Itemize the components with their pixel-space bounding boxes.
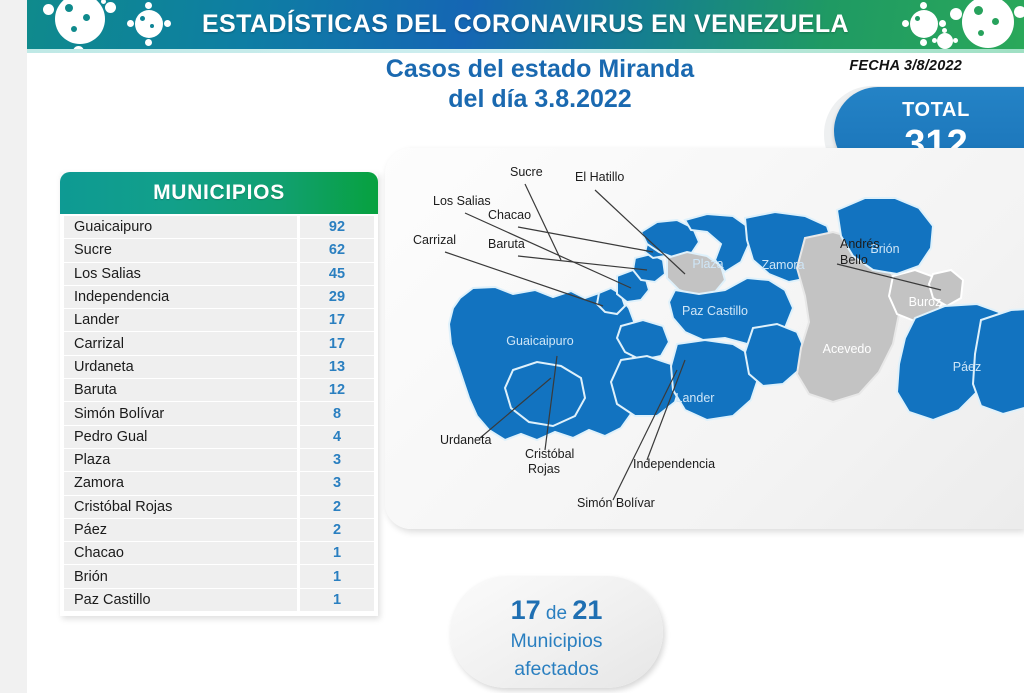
municipios-table-body: Guaicaipuro92Sucre62Los Salias45Independ… bbox=[60, 214, 378, 616]
municipio-name: Sucre bbox=[64, 242, 297, 258]
map-callout-label: Rojas bbox=[528, 462, 560, 476]
municipio-case-count: 13 bbox=[300, 359, 374, 375]
banner-underline bbox=[27, 49, 1024, 53]
table-row[interactable]: Brión1 bbox=[64, 565, 374, 587]
map-region-label: Páez bbox=[953, 360, 982, 374]
affected-municipalities-badge: 17 de 21 Municipios afectados bbox=[450, 576, 663, 688]
table-row[interactable]: Páez2 bbox=[64, 519, 374, 541]
map-callout-label: Chacao bbox=[488, 208, 531, 222]
map-region-label: Acevedo bbox=[823, 342, 872, 356]
table-row[interactable]: Lander17 bbox=[64, 309, 374, 331]
table-row[interactable]: Cristóbal Rojas2 bbox=[64, 496, 374, 518]
municipio-case-count: 92 bbox=[300, 219, 374, 235]
affected-count-line: 17 de 21 bbox=[450, 595, 663, 626]
municipio-case-count: 2 bbox=[300, 522, 374, 538]
municipio-case-count: 8 bbox=[300, 406, 374, 422]
table-row[interactable]: Los Salias45 bbox=[64, 263, 374, 285]
municipio-case-count: 3 bbox=[300, 452, 374, 468]
map-callout-label: Simón Bolívar bbox=[577, 496, 655, 510]
table-row[interactable]: Urdaneta13 bbox=[64, 356, 374, 378]
map-region-label: Guaicaipuro bbox=[506, 334, 573, 348]
map-region-label: Plaza bbox=[692, 257, 723, 271]
municipio-case-count: 1 bbox=[300, 569, 374, 585]
municipios-table: MUNICIPIOS Guaicaipuro92Sucre62Los Salia… bbox=[60, 172, 378, 616]
affected-count: 17 bbox=[511, 595, 541, 625]
map-callout-label: Andrés bbox=[840, 237, 880, 251]
miranda-map-panel: GuaicaipuroPlazaZamoraPaz CastilloLander… bbox=[385, 148, 1024, 529]
date-label: FECHA 3/8/2022 bbox=[849, 58, 962, 74]
municipio-case-count: 1 bbox=[300, 592, 374, 608]
total-label: TOTAL bbox=[848, 99, 1024, 122]
map-region-label: Lander bbox=[676, 391, 715, 405]
municipio-name: Los Salias bbox=[64, 266, 297, 282]
banner-title: ESTADÍSTICAS DEL CORONAVIRUS EN VENEZUEL… bbox=[27, 0, 1024, 49]
municipio-case-count: 45 bbox=[300, 266, 374, 282]
municipio-case-count: 29 bbox=[300, 289, 374, 305]
municipio-name: Simón Bolívar bbox=[64, 406, 297, 422]
page-title-line1: Casos del estado Miranda bbox=[300, 54, 780, 84]
map-callout-label: Urdaneta bbox=[440, 433, 491, 447]
municipio-name: Baruta bbox=[64, 382, 297, 398]
map-callout-label: El Hatillo bbox=[575, 170, 624, 184]
municipio-name: Brión bbox=[64, 569, 297, 585]
municipio-name: Zamora bbox=[64, 475, 297, 491]
map-callout-label: Sucre bbox=[510, 165, 543, 179]
table-row[interactable]: Carrizal17 bbox=[64, 332, 374, 354]
infographic-root: ESTADÍSTICAS DEL CORONAVIRUS EN VENEZUEL… bbox=[0, 0, 1024, 693]
affected-label-line1: Municipios bbox=[450, 629, 663, 654]
municipio-name: Urdaneta bbox=[64, 359, 297, 375]
map-region-label: Paz Castillo bbox=[682, 304, 748, 318]
municipio-case-count: 17 bbox=[300, 336, 374, 352]
municipio-case-count: 3 bbox=[300, 475, 374, 491]
municipio-name: Páez bbox=[64, 522, 297, 538]
municipio-name: Cristóbal Rojas bbox=[64, 499, 297, 515]
header-banner: ESTADÍSTICAS DEL CORONAVIRUS EN VENEZUEL… bbox=[27, 0, 1024, 49]
map-callout-label: Baruta bbox=[488, 237, 525, 251]
municipio-name: Pedro Gual bbox=[64, 429, 297, 445]
municipio-case-count: 1 bbox=[300, 545, 374, 561]
table-row[interactable]: Chacao1 bbox=[64, 542, 374, 564]
map-region-independencia[interactable] bbox=[745, 324, 805, 386]
page-title-line2: del día 3.8.2022 bbox=[300, 84, 780, 114]
municipio-name: Chacao bbox=[64, 545, 297, 561]
page-title: Casos del estado Miranda del día 3.8.202… bbox=[300, 54, 780, 114]
map-region-label: Buroz bbox=[909, 295, 942, 309]
table-row[interactable]: Guaicaipuro92 bbox=[64, 216, 374, 238]
miranda-map: GuaicaipuroPlazaZamoraPaz CastilloLander… bbox=[385, 148, 1024, 529]
table-row[interactable]: Plaza3 bbox=[64, 449, 374, 471]
map-callout-label: Cristóbal bbox=[525, 447, 574, 461]
municipio-name: Paz Castillo bbox=[64, 592, 297, 608]
affected-total: 21 bbox=[572, 595, 602, 625]
table-row[interactable]: Zamora3 bbox=[64, 472, 374, 494]
map-callout-label: Bello bbox=[840, 253, 868, 267]
table-row[interactable]: Baruta12 bbox=[64, 379, 374, 401]
affected-label-line2: afectados bbox=[450, 657, 663, 682]
municipio-case-count: 12 bbox=[300, 382, 374, 398]
table-row[interactable]: Independencia29 bbox=[64, 286, 374, 308]
municipio-name: Carrizal bbox=[64, 336, 297, 352]
table-row[interactable]: Pedro Gual4 bbox=[64, 426, 374, 448]
table-row[interactable]: Simón Bolívar8 bbox=[64, 402, 374, 424]
map-callout-label: Carrizal bbox=[413, 233, 456, 247]
affected-connector: de bbox=[541, 603, 573, 624]
map-regions bbox=[449, 198, 1024, 440]
map-callout-label: Independencia bbox=[633, 457, 715, 471]
municipio-case-count: 4 bbox=[300, 429, 374, 445]
municipio-case-count: 62 bbox=[300, 242, 374, 258]
municipio-name: Plaza bbox=[64, 452, 297, 468]
municipio-name: Lander bbox=[64, 312, 297, 328]
table-row[interactable]: Sucre62 bbox=[64, 239, 374, 261]
map-region-label: Zamora bbox=[761, 258, 804, 272]
municipios-table-header: MUNICIPIOS bbox=[60, 172, 378, 214]
municipio-name: Independencia bbox=[64, 289, 297, 305]
map-callout-label: Los Salias bbox=[433, 194, 491, 208]
table-row[interactable]: Paz Castillo1 bbox=[64, 589, 374, 611]
municipio-case-count: 17 bbox=[300, 312, 374, 328]
municipio-name: Guaicaipuro bbox=[64, 219, 297, 235]
municipio-case-count: 2 bbox=[300, 499, 374, 515]
